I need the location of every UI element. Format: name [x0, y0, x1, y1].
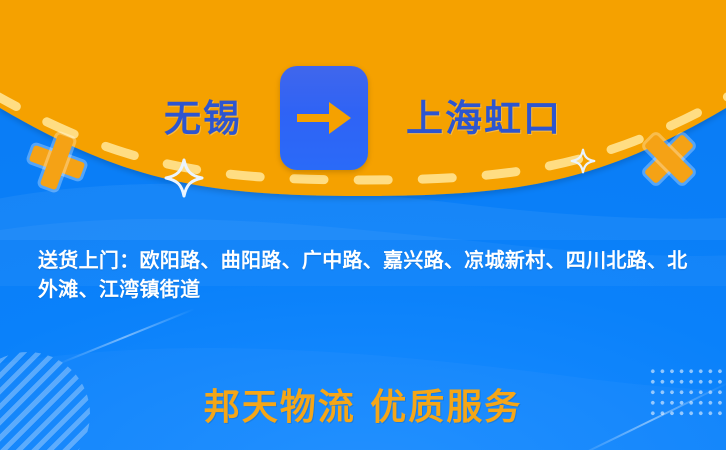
arrow-right-icon: [295, 96, 353, 140]
delivery-areas-text: 送货上门：欧阳路、曲阳路、广中路、嘉兴路、凉城新村、四川北路、北外滩、江湾镇街道: [38, 246, 694, 304]
logistics-route-banner: 无锡 上海虹口 送货上门：欧阳路、曲阳路、广中路、嘉兴路、凉城新村、四川北路、北…: [0, 0, 726, 450]
route-row: 无锡 上海虹口: [0, 66, 726, 170]
destination-city: 上海虹口: [406, 100, 562, 137]
company-slogan: 邦天物流 优质服务: [0, 388, 726, 428]
origin-city: 无锡: [164, 100, 242, 137]
route-arrow-button[interactable]: [280, 66, 368, 170]
